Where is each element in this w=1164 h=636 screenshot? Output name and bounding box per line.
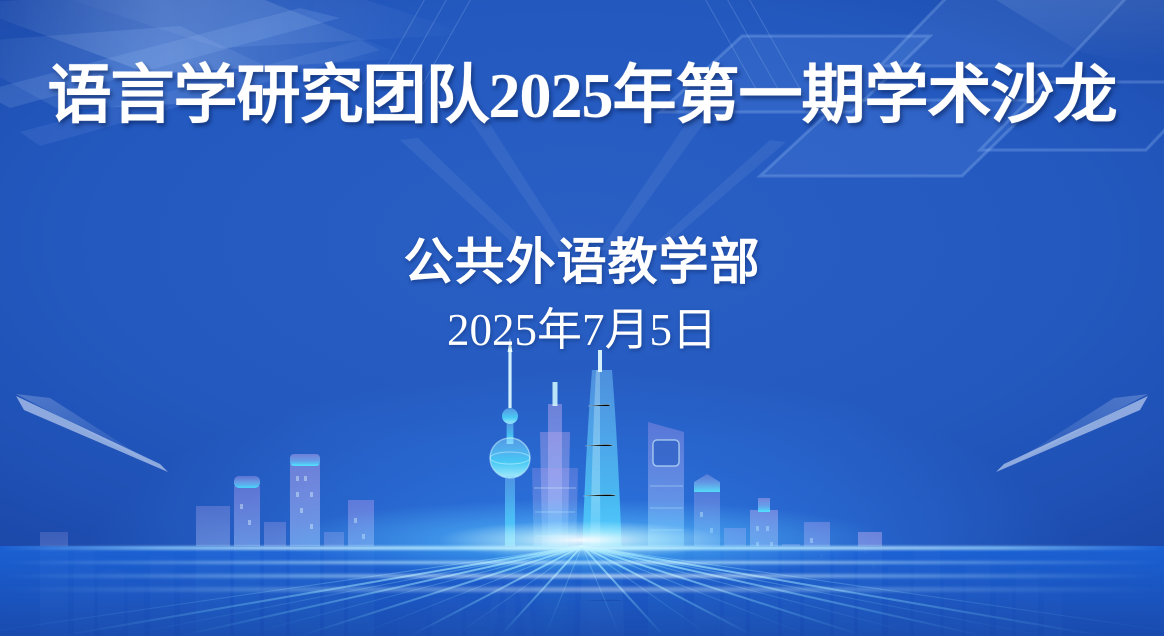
poster-subtitle-department: 公共外语教学部	[0, 235, 1164, 290]
light-trail-3	[0, 587, 1164, 592]
horizon-light-line	[0, 546, 1164, 550]
light-trail-1	[0, 561, 1164, 564]
ground-rays-graphic	[0, 506, 1164, 636]
light-trail-2	[0, 574, 1164, 578]
poster-canvas: 语言学研究团队2025年第一期学术沙龙 公共外语教学部 2025年7月5日	[0, 0, 1164, 636]
poster-title: 语言学研究团队2025年第一期学术沙龙	[0, 62, 1164, 130]
poster-date: 2025年7月5日	[0, 306, 1164, 356]
